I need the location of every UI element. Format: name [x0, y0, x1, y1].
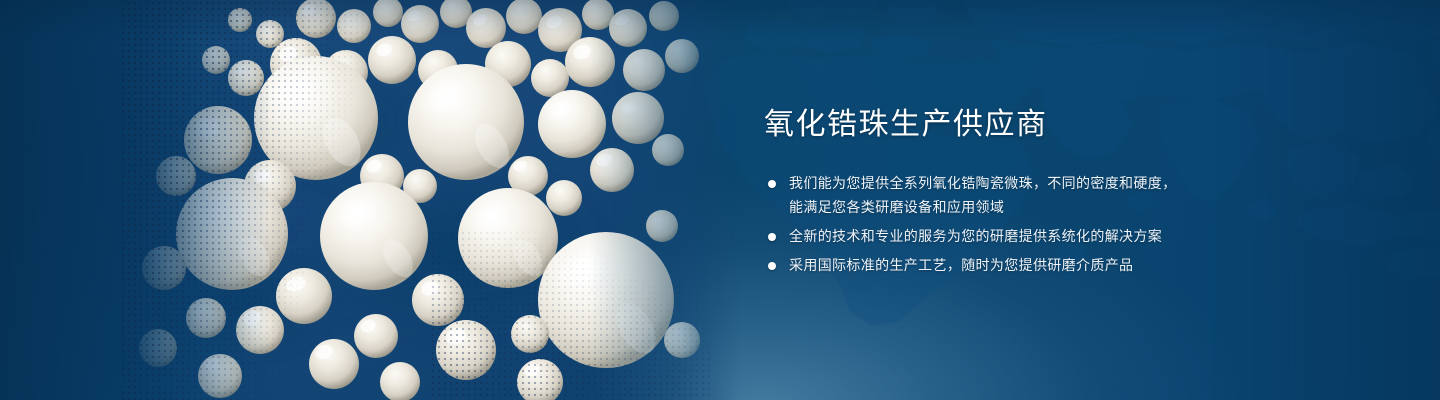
- banner-headline: 氧化锆珠生产供应商: [764, 106, 1234, 144]
- bullet-dot-icon: [768, 180, 776, 188]
- hero-banner: 氧化锆珠生产供应商 我们能为您提供全系列氧化锆陶瓷微珠，不同的密度和硬度， 能满…: [0, 0, 1440, 400]
- bullet-item: 全新的技术和专业的服务为您的研磨提供系统化的解决方案: [764, 225, 1234, 248]
- bullet-dot-icon: [768, 233, 776, 241]
- zirconia-ceramic-beads-photo: [120, 0, 740, 400]
- bullet-item: 采用国际标准的生产工艺，随时为您提供研磨介质产品: [764, 254, 1234, 277]
- bullet-dot-icon: [768, 262, 776, 270]
- bullet-line: 采用国际标准的生产工艺，随时为您提供研磨介质产品: [789, 254, 1234, 277]
- banner-copy: 氧化锆珠生产供应商 我们能为您提供全系列氧化锆陶瓷微珠，不同的密度和硬度， 能满…: [764, 106, 1234, 277]
- bullet-line: 我们能为您提供全系列氧化锆陶瓷微珠，不同的密度和硬度，: [789, 172, 1234, 195]
- bullet-line: 能满足您各类研磨设备和应用领域: [789, 196, 1234, 219]
- bullet-item: 我们能为您提供全系列氧化锆陶瓷微珠，不同的密度和硬度， 能满足您各类研磨设备和应…: [764, 172, 1234, 219]
- bullet-line: 全新的技术和专业的服务为您的研磨提供系统化的解决方案: [789, 225, 1234, 248]
- banner-bullet-list: 我们能为您提供全系列氧化锆陶瓷微珠，不同的密度和硬度， 能满足您各类研磨设备和应…: [764, 172, 1234, 277]
